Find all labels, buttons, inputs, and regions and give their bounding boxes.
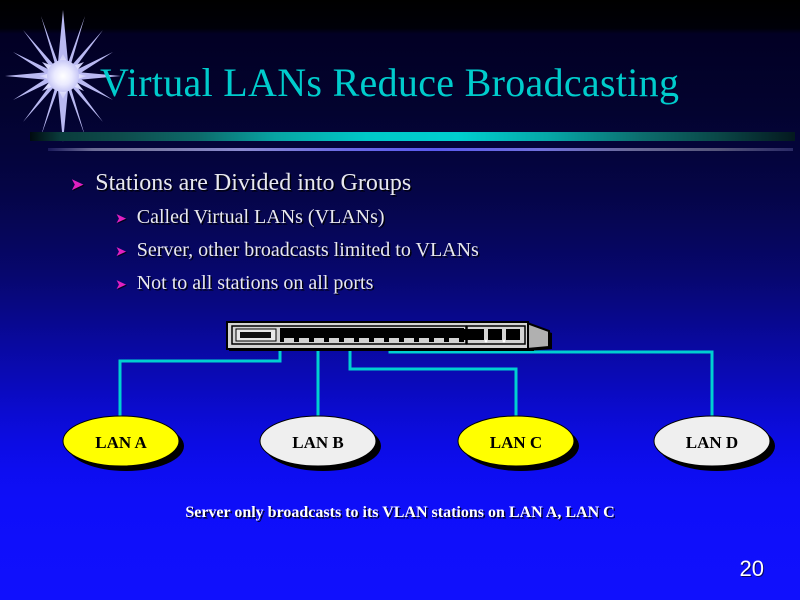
lan-node-d[interactable]: LAN D — [654, 416, 775, 471]
bullet-item: ➤ Called Virtual LANs (VLANs) — [115, 202, 760, 235]
arrow-bullet-icon: ➤ — [115, 238, 127, 268]
lan-node-b[interactable]: LAN B — [260, 416, 381, 471]
arrow-bullet-icon: ➤ — [115, 271, 127, 301]
lan-node-c[interactable]: LAN C — [458, 416, 579, 471]
ethernet-switch — [227, 322, 552, 351]
link-lan-a — [120, 342, 280, 418]
arrow-bullet-icon: ➤ — [70, 168, 84, 202]
bullet-item: ➤ Stations are Divided into Groups — [70, 166, 760, 202]
bullet-text: Stations are Divided into Groups — [95, 166, 411, 200]
lan-node-label: LAN D — [686, 433, 738, 452]
lan-node-group: LAN A LAN B LAN C LAN D — [63, 416, 775, 471]
bullet-text: Server, other broadcasts limited to VLAN… — [137, 235, 479, 265]
lan-node-label: LAN A — [95, 433, 147, 452]
bullet-text: Called Virtual LANs (VLANs) — [137, 202, 385, 232]
lan-node-a[interactable]: LAN A — [63, 416, 184, 471]
presentation-slide: Virtual LANs Reduce Broadcasting ➤ Stati… — [0, 0, 800, 600]
secondary-divider-line — [48, 148, 793, 151]
page-number: 20 — [740, 556, 764, 582]
bullet-item: ➤ Server, other broadcasts limited to VL… — [115, 235, 760, 268]
diagram-caption: Server only broadcasts to its VLAN stati… — [0, 504, 800, 522]
arrow-bullet-icon: ➤ — [115, 205, 127, 235]
lan-node-label: LAN C — [490, 433, 542, 452]
link-group — [120, 342, 712, 418]
accent-divider-bar — [30, 132, 795, 141]
network-diagram: LAN A LAN B LAN C LAN D — [0, 300, 800, 500]
link-lan-d — [390, 342, 712, 418]
slide-title: Virtual LANs Reduce Broadcasting — [100, 56, 780, 110]
bullet-list: ➤ Stations are Divided into Groups ➤ Cal… — [70, 166, 760, 301]
bullet-item: ➤ Not to all stations on all ports — [115, 268, 760, 301]
bullet-text: Not to all stations on all ports — [137, 268, 374, 298]
lan-node-label: LAN B — [292, 433, 343, 452]
